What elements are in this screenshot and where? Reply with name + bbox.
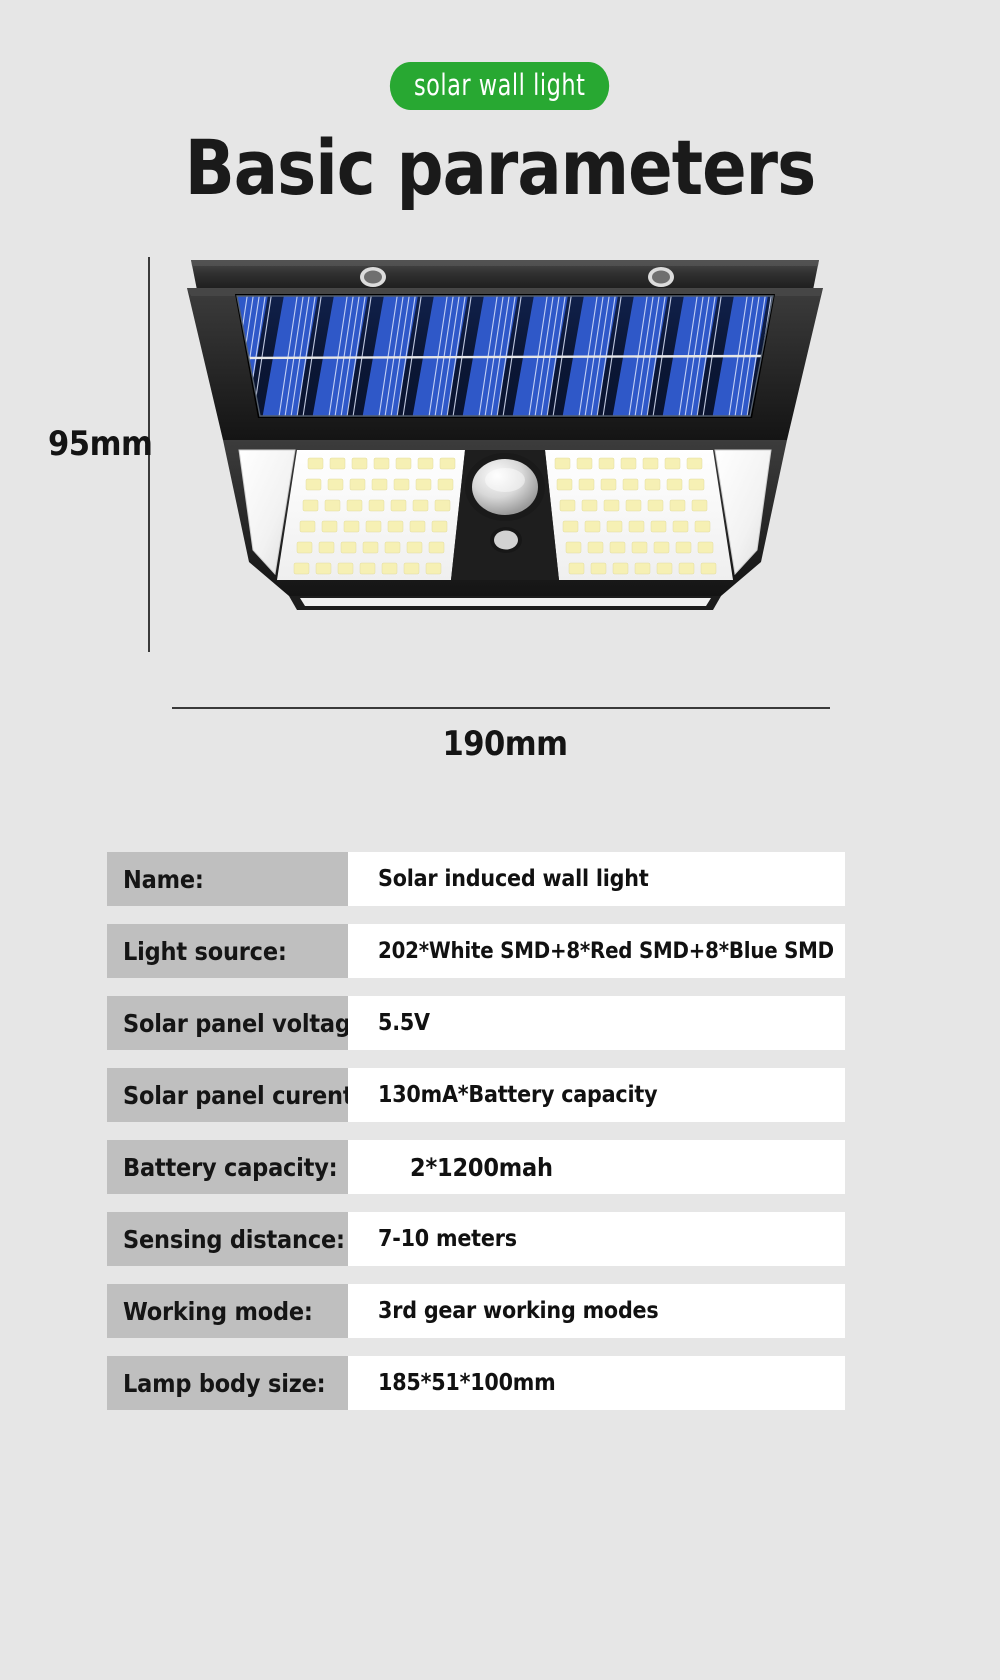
led-section xyxy=(223,440,787,610)
spec-label-solar-panel-current: Solar panel curent: xyxy=(107,1068,348,1122)
product-dimension-figure: 95mm 190mm xyxy=(0,232,1000,792)
table-row: Light source: 202*White SMD+8*Red SMD+8*… xyxy=(107,924,845,978)
led-array-left xyxy=(277,450,465,580)
spec-value-light-source: 202*White SMD+8*Red SMD+8*Blue SMD xyxy=(348,924,845,978)
page-title: Basic parameters xyxy=(20,130,980,206)
spec-label-battery-capacity: Battery capacity: xyxy=(107,1140,348,1194)
table-row: Battery capacity: 2*1200mah xyxy=(107,1140,845,1194)
page-header: solar wall light Basic parameters xyxy=(0,0,1000,206)
spec-value-name: Solar induced wall light xyxy=(348,852,845,906)
table-row: Solar panel curent: 130mA*Battery capaci… xyxy=(107,1068,845,1122)
solar-wall-light-product-image xyxy=(165,244,845,619)
spec-label-sensing-distance: Sensing distance: xyxy=(107,1212,348,1266)
spec-label-light-source: Light source: xyxy=(107,924,348,978)
spec-label-working-mode: Working mode: xyxy=(107,1284,348,1338)
table-row: Sensing distance: 7-10 meters xyxy=(107,1212,845,1266)
solar-cells xyxy=(212,284,773,430)
product-category-badge: solar wall light xyxy=(390,62,610,110)
spec-value-working-mode: 3rd gear working modes xyxy=(348,1284,845,1338)
spec-value-lamp-body-size: 185*51*100mm xyxy=(348,1356,845,1410)
bottom-light-strip xyxy=(289,596,721,610)
pir-motion-sensor xyxy=(451,450,559,580)
height-dimension-label: 95mm xyxy=(48,424,152,464)
width-dimension-label: 190mm xyxy=(0,724,1000,764)
solar-panel-housing xyxy=(187,284,823,440)
width-dimension-line xyxy=(172,707,830,709)
table-row: Working mode: 3rd gear working modes xyxy=(107,1284,845,1338)
spec-value-battery-capacity: 2*1200mah xyxy=(348,1140,845,1194)
spec-value-solar-panel-current: 130mA*Battery capacity xyxy=(348,1068,845,1122)
specification-table: Name: Solar induced wall light Light sou… xyxy=(107,852,845,1428)
spec-label-name: Name: xyxy=(107,852,348,906)
led-array-right xyxy=(545,450,733,580)
table-row: Solar panel voltage: 5.5V xyxy=(107,996,845,1050)
spec-label-lamp-body-size: Lamp body size: xyxy=(107,1356,348,1410)
spec-label-solar-panel-voltage: Solar panel voltage: xyxy=(107,996,348,1050)
mount-bar xyxy=(191,260,819,290)
table-row: Lamp body size: 185*51*100mm xyxy=(107,1356,845,1410)
spec-value-sensing-distance: 7-10 meters xyxy=(348,1212,845,1266)
spec-value-solar-panel-voltage: 5.5V xyxy=(348,996,845,1050)
table-row: Name: Solar induced wall light xyxy=(107,852,845,906)
